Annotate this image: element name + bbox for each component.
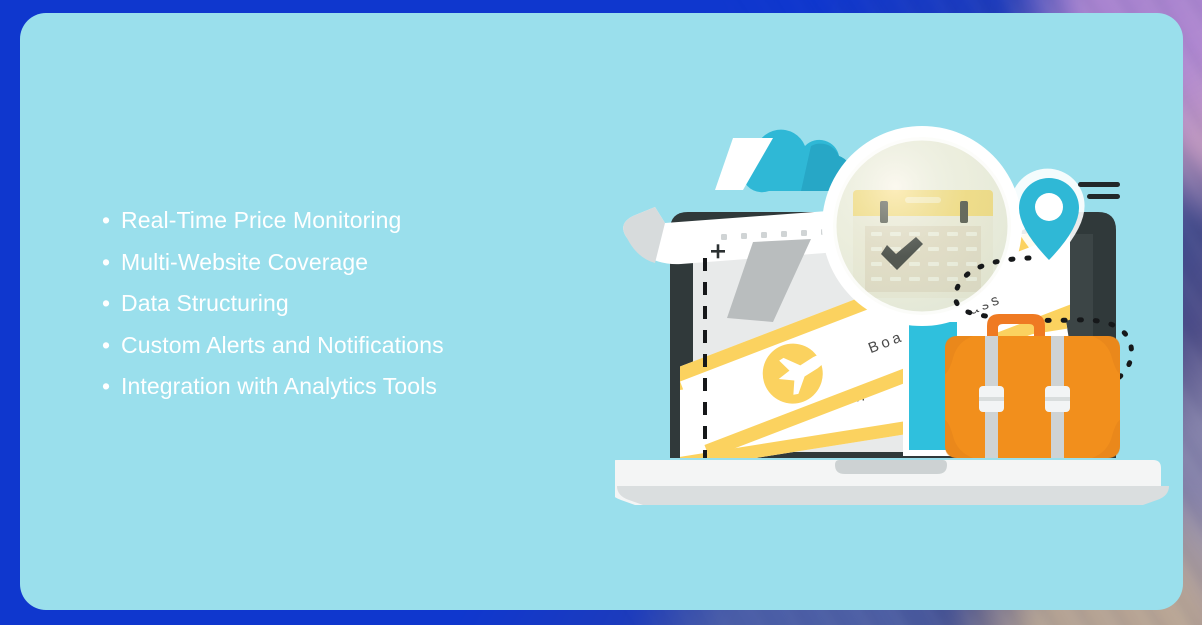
list-item: • Multi-Website Coverage [102, 251, 572, 293]
list-item: • Integration with Analytics Tools [102, 375, 572, 417]
bullet-icon: • [102, 292, 121, 315]
feature-label: Custom Alerts and Notifications [121, 334, 444, 357]
slide-canvas: • Real-Time Price Monitoring • Multi-Web… [0, 0, 1202, 625]
feature-list: • Real-Time Price Monitoring • Multi-Web… [102, 209, 572, 417]
list-item: • Custom Alerts and Notifications [102, 334, 572, 376]
bullet-icon: • [102, 209, 121, 232]
bullet-icon: • [102, 375, 121, 398]
feature-label: Multi-Website Coverage [121, 251, 368, 274]
trackpad-notch [835, 460, 947, 474]
feature-label: Real-Time Price Monitoring [121, 209, 401, 232]
list-item: • Data Structuring [102, 292, 572, 334]
list-item: • Real-Time Price Monitoring [102, 209, 572, 251]
bullet-icon: • [102, 334, 121, 357]
content-card: • Real-Time Price Monitoring • Multi-Web… [20, 13, 1183, 610]
bullet-icon: • [102, 251, 121, 274]
motion-lines-icon [1078, 182, 1120, 199]
travel-booking-illustration: Boar Boarding Pass [615, 108, 1175, 508]
magnifier-calendar [822, 126, 1022, 326]
feature-label: Data Structuring [121, 292, 289, 315]
feature-label: Integration with Analytics Tools [121, 375, 437, 398]
laptop-base [615, 460, 1169, 505]
